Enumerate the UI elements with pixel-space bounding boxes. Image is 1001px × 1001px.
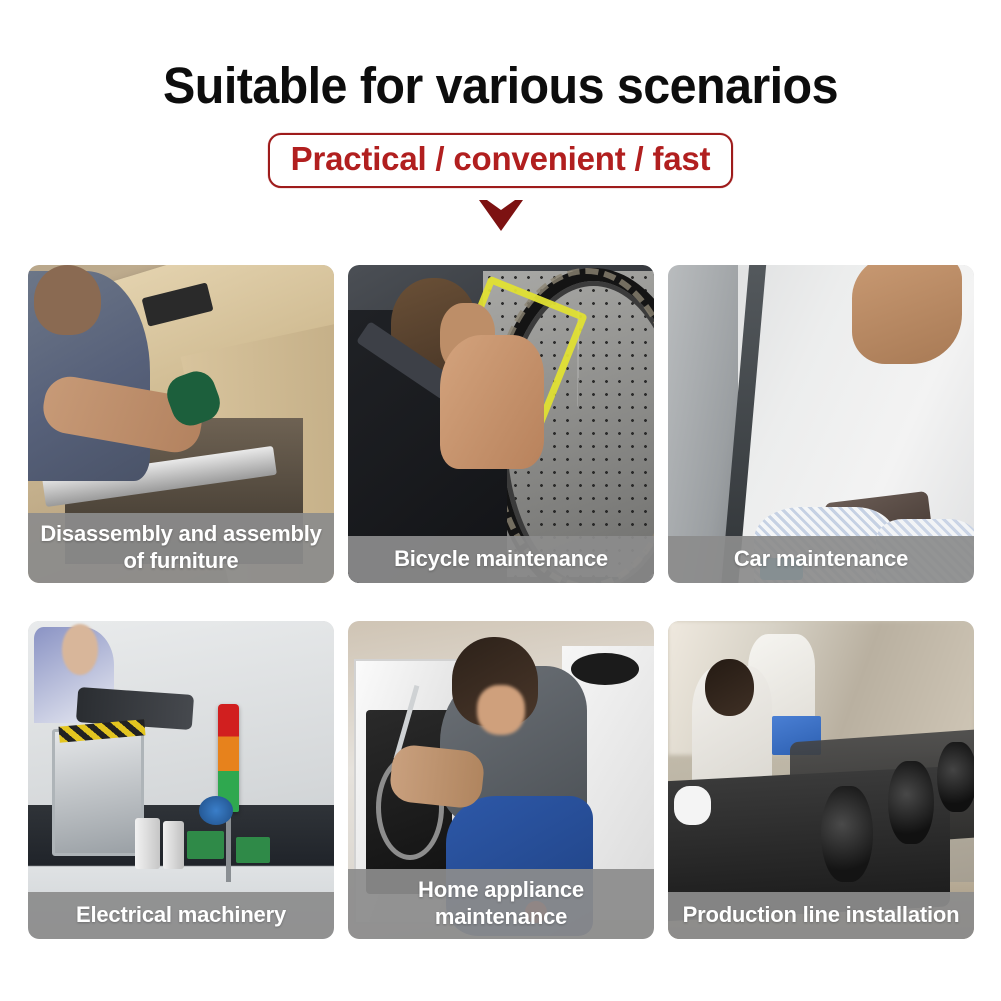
header: Suitable for various scenarios Practical… [0, 0, 1001, 236]
caption-line-1: Disassembly and assembly [32, 520, 330, 547]
tagline-text: Practical / convenient / fast [291, 140, 711, 178]
caption-line-1: Bicycle maintenance [354, 545, 648, 572]
scenario-card-bicycle[interactable]: Bicycle maintenance [348, 265, 654, 583]
scenario-card-furniture[interactable]: Disassembly and assembly of furniture [28, 265, 334, 583]
scenario-caption-home-appliance: Home appliance maintenance [348, 869, 654, 939]
caption-line-1: Production line installation [674, 901, 968, 928]
scenario-caption-furniture: Disassembly and assembly of furniture [28, 513, 334, 583]
scenario-card-home-appliance[interactable]: Home appliance maintenance [348, 621, 654, 939]
tagline-badge: Practical / convenient / fast [268, 133, 734, 188]
page-title: Suitable for various scenarios [25, 58, 976, 114]
scenario-card-production-line[interactable]: Production line installation [668, 621, 974, 939]
scenario-caption-production-line: Production line installation [668, 892, 974, 939]
arrow-wrapper [0, 200, 1001, 236]
scenario-grid: Disassembly and assembly of furniture [28, 265, 973, 939]
scenario-caption-bicycle: Bicycle maintenance [348, 536, 654, 583]
scenario-caption-electrical: Electrical machinery [28, 892, 334, 939]
chevron-down-arrow-icon [479, 200, 523, 231]
caption-line-2: of furniture [32, 547, 330, 574]
caption-line-2: maintenance [352, 903, 650, 930]
caption-line-1: Home appliance [352, 876, 650, 903]
caption-line-1: Electrical machinery [34, 901, 328, 928]
tagline-badge-wrapper: Practical / convenient / fast [0, 133, 1001, 188]
scenario-card-electrical[interactable]: Electrical machinery [28, 621, 334, 939]
scenario-card-car[interactable]: Car maintenance [668, 265, 974, 583]
promo-page: Suitable for various scenarios Practical… [0, 0, 1001, 1001]
caption-line-1: Car maintenance [674, 545, 968, 572]
scenario-caption-car: Car maintenance [668, 536, 974, 583]
